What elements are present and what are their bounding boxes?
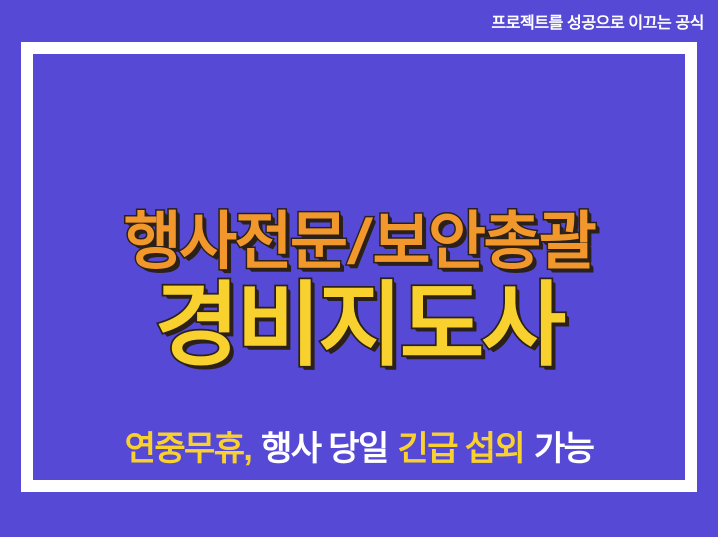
headline-line1-right: 보안총괄 (373, 207, 595, 277)
headline-line-2: 경비지도사 (33, 276, 685, 376)
strapline-part-1: 연중무휴, (124, 430, 253, 468)
headline-line-1: 행사전문/보안총괄 (33, 204, 685, 280)
headline-block: 행사전문/보안총괄 경비지도사 (33, 204, 685, 376)
strapline-part-2: 행사 당일 (260, 430, 389, 468)
strapline-part-4: 가능 (533, 430, 594, 468)
poster-content: 행사전문/보안총괄 경비지도사 (33, 54, 685, 480)
poster-canvas: 프로젝트를 성공으로 이끄는 공식 행사전문/보안총괄 경비지도사 연중무휴, … (0, 0, 718, 537)
top-tagline: 프로젝트를 성공으로 이끄는 공식 (491, 13, 704, 35)
headline-line1-left: 행사전문 (124, 207, 346, 277)
strapline-part-3: 긴급 섭외 (397, 430, 526, 468)
bottom-strapline: 연중무휴, 행사 당일 긴급 섭외 가능 (0, 427, 718, 471)
